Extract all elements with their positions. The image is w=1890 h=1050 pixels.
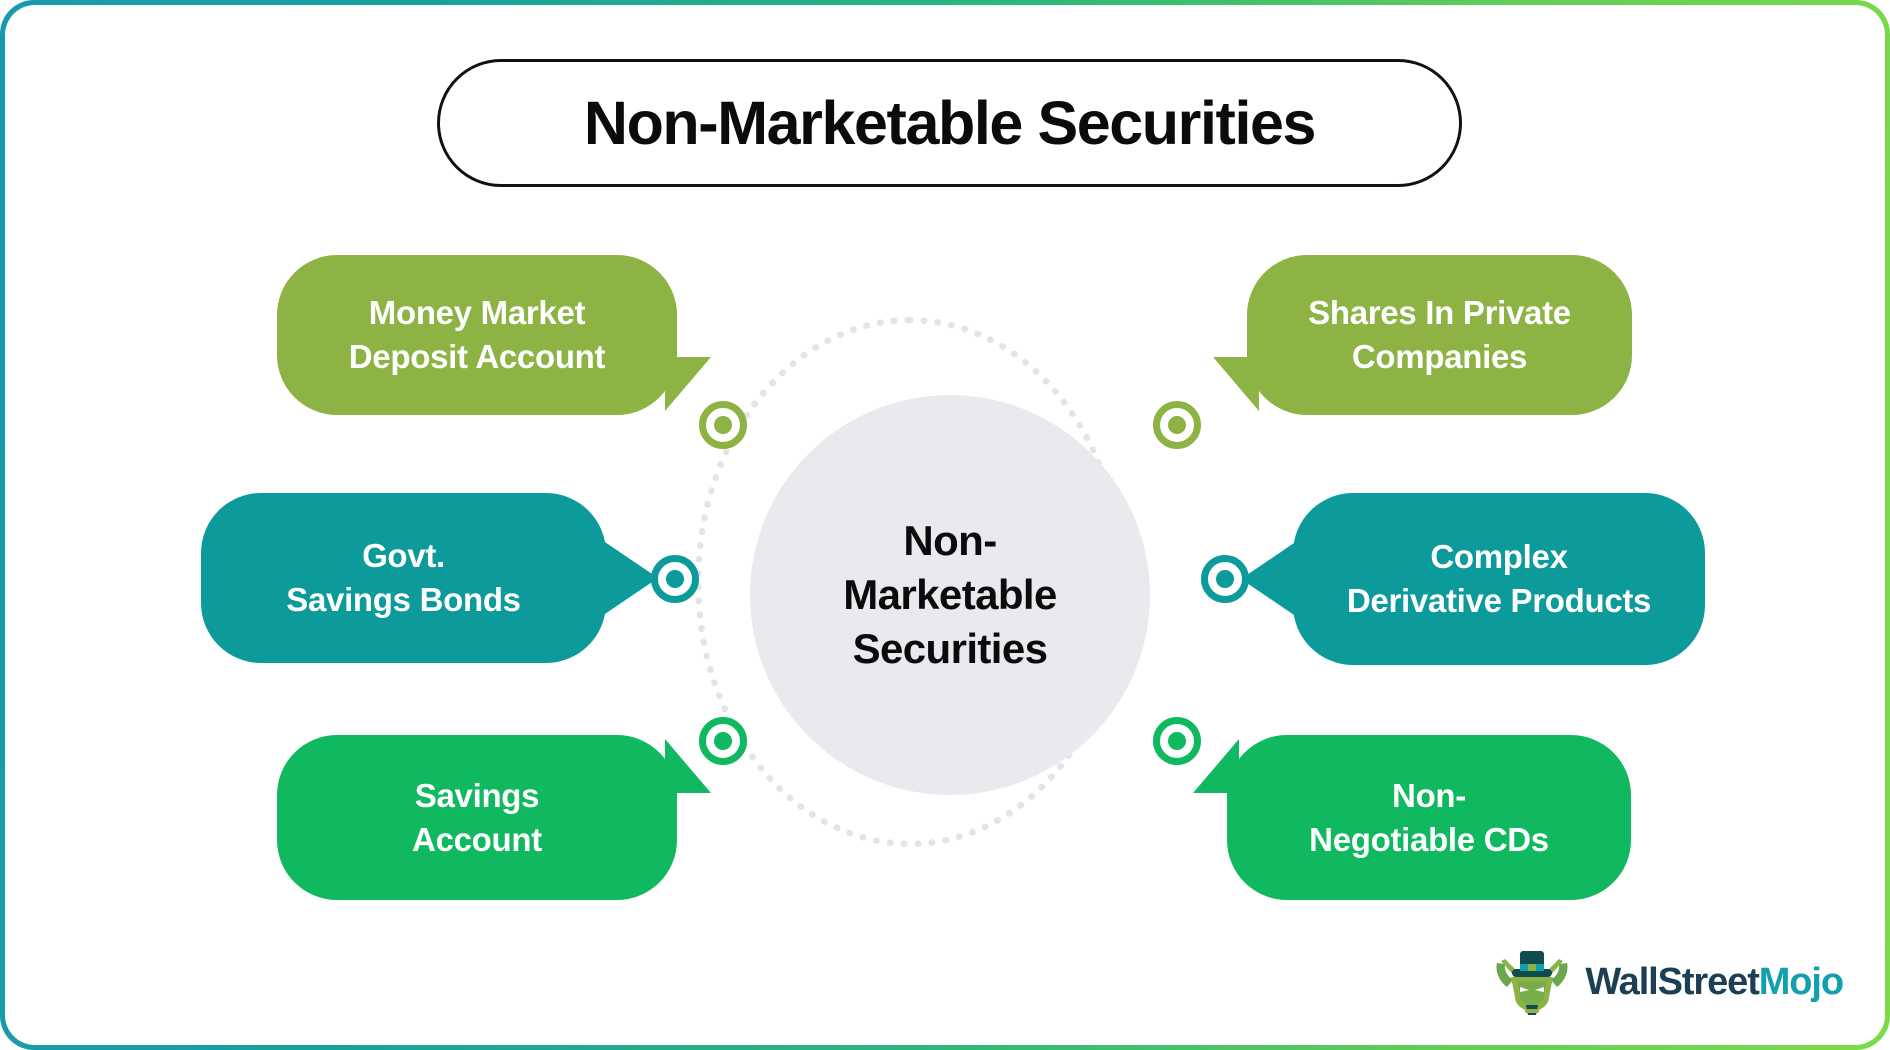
bubble-label: Savings Account <box>412 774 542 861</box>
infographic-canvas: Non-Marketable Securities Non- Marketabl… <box>5 5 1885 1045</box>
node-ring-icon-savings-account <box>699 717 747 765</box>
bubble-govt-savings-bonds[interactable]: Govt. Savings Bonds <box>201 493 606 663</box>
logo-wordmark: WallStreetMojo <box>1585 961 1843 1004</box>
bubble-label: Complex Derivative Products <box>1347 535 1651 622</box>
node-ring-icon-shares-in-private-companies <box>1153 401 1201 449</box>
bubble-label: Govt. Savings Bonds <box>286 534 520 621</box>
bubble-label: Shares In Private Companies <box>1308 291 1571 378</box>
center-hub-label: Non- Marketable Securities <box>843 514 1056 675</box>
bubble-shares-in-private-companies[interactable]: Shares In Private Companies <box>1247 255 1632 415</box>
infographic-frame: Non-Marketable Securities Non- Marketabl… <box>0 0 1890 1050</box>
bubble-non-negotiable-cds[interactable]: Non- Negotiable CDs <box>1227 735 1631 900</box>
bubble-tail-icon <box>1213 357 1259 411</box>
bubble-money-market-deposit-account[interactable]: Money Market Deposit Account <box>277 255 677 415</box>
node-ring-icon-govt-savings-bonds <box>651 555 699 603</box>
node-ring-icon-complex-derivative-products <box>1201 555 1249 603</box>
bubble-savings-account[interactable]: Savings Account <box>277 735 677 900</box>
title-pill: Non-Marketable Securities <box>437 59 1462 187</box>
bull-mascot-icon <box>1493 947 1571 1017</box>
bubble-complex-derivative-products[interactable]: Complex Derivative Products <box>1293 493 1705 665</box>
bubble-label: Non- Negotiable CDs <box>1309 774 1549 861</box>
logo-word-second: Mojo <box>1759 961 1843 1003</box>
bubble-tail-icon <box>1241 541 1297 617</box>
bubble-label: Money Market Deposit Account <box>349 291 605 378</box>
bubble-tail-icon <box>665 357 711 411</box>
page-title: Non-Marketable Securities <box>584 88 1315 158</box>
center-hub: Non- Marketable Securities <box>750 395 1150 795</box>
logo-word-first: WallStreet <box>1585 961 1758 1003</box>
wallstreetmojo-logo[interactable]: WallStreetMojo <box>1493 947 1843 1017</box>
bubble-tail-icon <box>602 540 658 616</box>
node-ring-icon-non-negotiable-cds <box>1153 717 1201 765</box>
node-ring-icon-money-market-deposit-account <box>699 401 747 449</box>
